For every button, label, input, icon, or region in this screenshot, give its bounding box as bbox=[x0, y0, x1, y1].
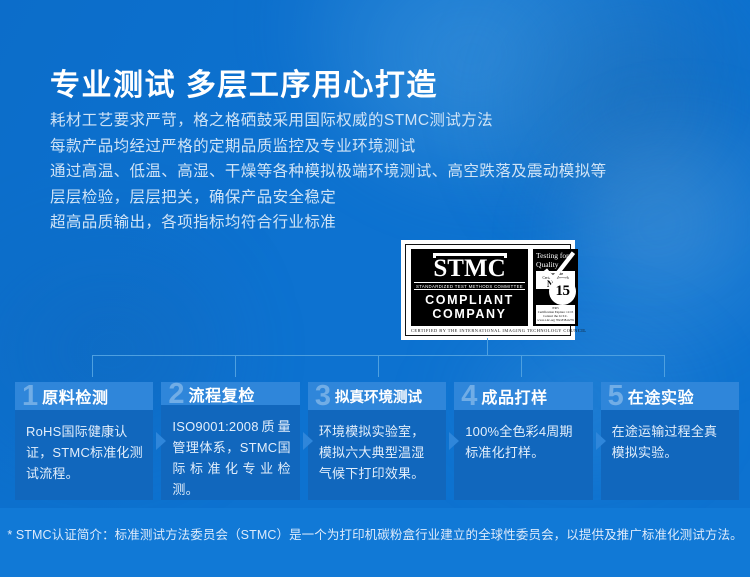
connector-drop bbox=[521, 355, 522, 377]
process-step-card-3[interactable]: 3 拟真环境测试 环境模拟实验室，模拟六大典型温湿气候下打印效果。 bbox=[308, 382, 446, 500]
badge-frame: STMC STANDARDIZED TEST METHODS COMMITTEE… bbox=[405, 244, 571, 336]
expiry-year-circle: 15 bbox=[549, 278, 576, 305]
stmc-wordmark: STMC bbox=[433, 257, 505, 281]
step-number: 1 bbox=[22, 383, 38, 409]
connector-stem bbox=[487, 338, 488, 355]
step-description: 在途运输过程全真模拟实验。 bbox=[601, 410, 739, 500]
badge-top-row: STMC STANDARDIZED TEST METHODS COMMITTEE… bbox=[411, 249, 565, 326]
badge-stmc-panel: STMC STANDARDIZED TEST METHODS COMMITTEE… bbox=[411, 249, 528, 326]
chevron-right-icon bbox=[596, 432, 606, 450]
step-number: 4 bbox=[461, 383, 477, 409]
step-number: 2 bbox=[168, 382, 184, 405]
intro-line: 耗材工艺要求严苛，格之格硒鼓采用国际权威的STMC测试方法 bbox=[50, 108, 607, 134]
process-step-card-4[interactable]: 4 成品打样 100%全色彩4周期标准化打样。 bbox=[454, 382, 592, 500]
step-title: 成品打样 bbox=[481, 384, 547, 408]
badge-footer-text: CERTIFIED BY THE INTERNATIONAL IMAGING T… bbox=[411, 326, 565, 334]
intro-line: 层层检验，层层把关，确保产品安全稳定 bbox=[50, 185, 607, 211]
step-description: 环境模拟实验室，模拟六大典型温湿气候下打印效果。 bbox=[308, 410, 446, 500]
connector-drop bbox=[664, 355, 665, 377]
card-header: 1 原料检测 bbox=[15, 382, 153, 410]
connector-tree bbox=[0, 338, 750, 384]
card-header: 2 流程复检 bbox=[161, 382, 299, 405]
process-step-card-2[interactable]: 2 流程复检 ISO9001:2008质量管理体系，STMC国际标准化专业检测。 bbox=[161, 382, 299, 500]
step-title: 在途实验 bbox=[628, 384, 694, 408]
badge-quality-panel: Testing for Quality Complete Certified T… bbox=[533, 249, 578, 326]
card-header: 3 拟真环境测试 bbox=[308, 382, 446, 410]
stmc-compliant-line1: COMPLIANT bbox=[425, 293, 514, 307]
connector-drop bbox=[378, 355, 379, 377]
step-number: 5 bbox=[608, 383, 624, 409]
stmc-certification-badge: STMC STANDARDIZED TEST METHODS COMMITTEE… bbox=[401, 240, 575, 340]
process-step-list: 1 原料检测 RoHS国际健康认证，STMC标准化测试流程。 2 流程复检 IS… bbox=[15, 382, 739, 500]
badge-contact-line: www.i-itc.org 702-838-6279 bbox=[537, 318, 574, 322]
step-description: 100%全色彩4周期标准化打样。 bbox=[454, 410, 592, 500]
promo-page: 专业测试 多层工序用心打造 耗材工艺要求严苛，格之格硒鼓采用国际权威的STMC测… bbox=[0, 0, 750, 577]
chevron-right-icon bbox=[303, 432, 313, 450]
step-title: 原料检测 bbox=[42, 384, 108, 408]
card-header: 5 在途实验 bbox=[601, 382, 739, 410]
chevron-right-icon bbox=[156, 432, 166, 450]
stmc-compliant-line2: COMPANY bbox=[432, 307, 506, 321]
step-title: 拟真环境测试 bbox=[335, 386, 422, 407]
stmc-committee-text: STANDARDIZED TEST METHODS COMMITTEE bbox=[414, 282, 525, 290]
intro-line: 每款产品均经过严格的定期品质监控及专业环境测试 bbox=[50, 134, 607, 160]
process-step-card-1[interactable]: 1 原料检测 RoHS国际健康认证，STMC标准化测试流程。 bbox=[15, 382, 153, 500]
card-header: 4 成品打样 bbox=[454, 382, 592, 410]
step-title: 流程复检 bbox=[189, 382, 255, 405]
step-description: RoHS国际健康认证，STMC标准化测试流程。 bbox=[15, 410, 153, 500]
connector-drop bbox=[235, 355, 236, 377]
intro-line: 超高品质输出，各项指标均符合行业标准 bbox=[50, 210, 607, 236]
badge-contact-block: 8305 Certification Expires: 11/15 Contac… bbox=[536, 305, 575, 324]
stmc-footnote: * STMC认证简介：标准测试方法委员会（STMC）是一个为打印机碳粉盒行业建立… bbox=[0, 524, 750, 543]
chevron-right-icon bbox=[449, 432, 459, 450]
intro-line: 通过高温、低温、高湿、干燥等各种模拟极端环境测试、高空跌落及震动模拟等 bbox=[50, 159, 607, 185]
step-description: ISO9001:2008质量管理体系，STMC国际标准化专业检测。 bbox=[161, 405, 299, 500]
step-number: 3 bbox=[315, 383, 331, 409]
page-title: 专业测试 多层工序用心打造 bbox=[50, 60, 438, 104]
intro-paragraph: 耗材工艺要求严苛，格之格硒鼓采用国际权威的STMC测试方法 每款产品均经过严格的… bbox=[50, 108, 607, 236]
connector-drop bbox=[92, 355, 93, 377]
process-step-card-5[interactable]: 5 在途实验 在途运输过程全真模拟实验。 bbox=[601, 382, 739, 500]
